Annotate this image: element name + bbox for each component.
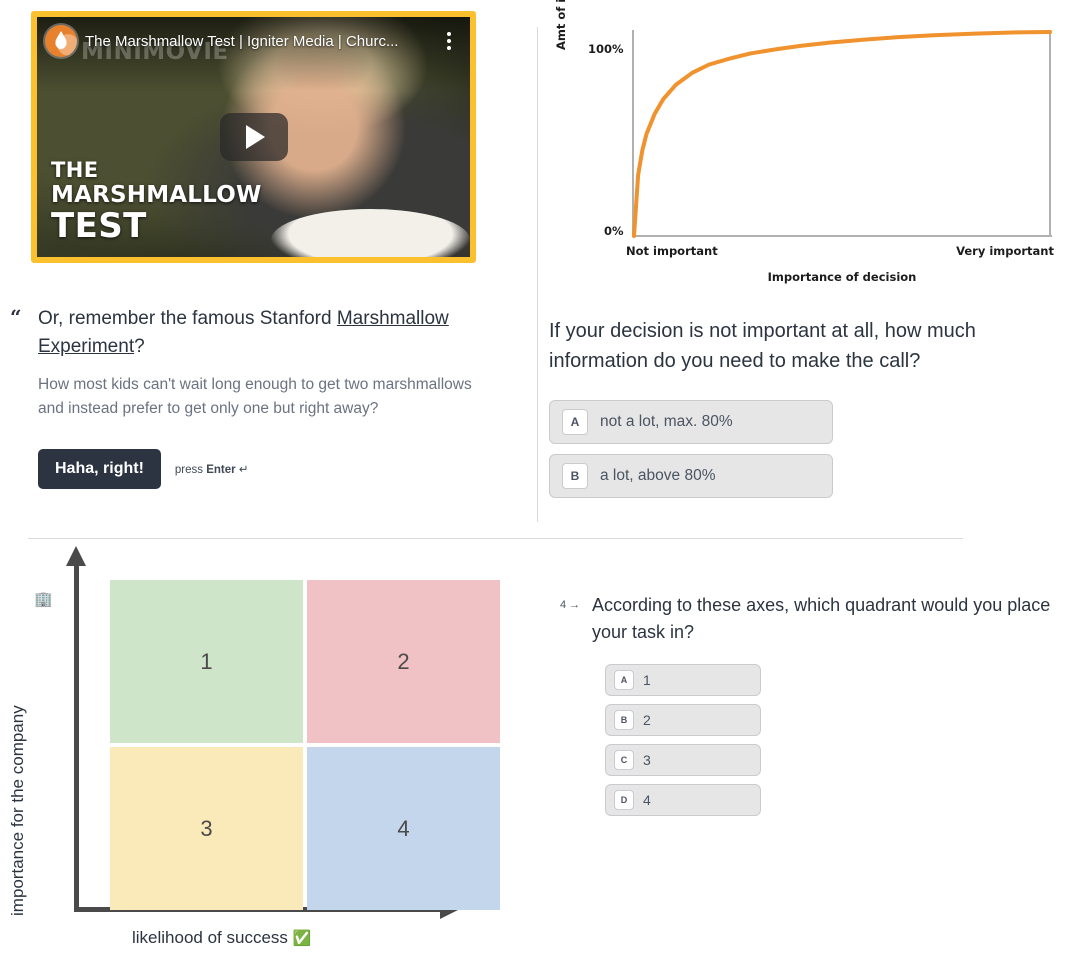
- hint-prefix: press: [175, 464, 206, 476]
- check-mark-icon: ✅: [293, 930, 312, 947]
- question-4-option-label: 4: [643, 792, 651, 808]
- question-1-option-b[interactable]: Ba lot, above 80%: [549, 454, 833, 498]
- quadrant-diagram: 🏢 importance for the company 1 2 3 4 lik…: [28, 556, 498, 956]
- press-enter-hint: press Enter ↵: [175, 462, 249, 476]
- chart-x-tick-left: Not important: [626, 244, 718, 258]
- question-1-options: Anot a lot, max. 80%Ba lot, above 80%: [549, 400, 1069, 508]
- video-title[interactable]: The Marshmallow Test | Igniter Media | C…: [85, 32, 432, 51]
- question-4-option-label: 3: [643, 752, 651, 768]
- video-caption-line-1: THE: [51, 160, 262, 181]
- video-caption: THE MARSHMALLOW TEST: [51, 160, 262, 243]
- question-4-panel: 4 → According to these axes, which quadr…: [560, 592, 1060, 824]
- question-1-option-key: A: [562, 409, 588, 435]
- question-1-option-label: not a lot, max. 80%: [600, 413, 733, 431]
- question-4-option-label: 1: [643, 672, 651, 688]
- quote-subtext: How most kids can't wait long enough to …: [38, 373, 478, 421]
- question-1-text: If your decision is not important at all…: [549, 316, 1069, 376]
- quote-block: “ Or, remember the famous Stanford Marsh…: [10, 305, 510, 489]
- video-player-card[interactable]: MINIMOVIE The Marshmallow Test | Igniter…: [31, 11, 476, 263]
- quote-heading-suffix: ?: [134, 336, 145, 357]
- chart-x-tick-right: Very important: [956, 244, 1054, 258]
- question-4-option-d[interactable]: D4: [605, 784, 761, 816]
- question-4-option-b[interactable]: B2: [605, 704, 761, 736]
- question-4-option-key: B: [614, 710, 634, 730]
- question-1-panel: If your decision is not important at all…: [549, 316, 1069, 508]
- chart-plot-area: [632, 30, 1052, 238]
- chart-x-axis-label: Importance of decision: [632, 270, 1052, 284]
- question-4-option-key: C: [614, 750, 634, 770]
- hint-key: Enter: [206, 464, 235, 476]
- quadrant-y-axis-arrow-icon: [66, 546, 86, 566]
- question-1-option-a[interactable]: Anot a lot, max. 80%: [549, 400, 833, 444]
- question-4-number: 4 →: [560, 592, 592, 611]
- question-4-option-key: D: [614, 790, 634, 810]
- quadrant-cell-2[interactable]: 2: [307, 580, 500, 743]
- video-caption-line-3: TEST: [51, 209, 262, 243]
- question-1-option-label: a lot, above 80%: [600, 467, 715, 485]
- chart-data-curve: [634, 32, 1050, 236]
- quadrant-cell-1[interactable]: 1: [110, 580, 303, 743]
- question-4-option-a[interactable]: A1: [605, 664, 761, 696]
- quadrant-y-axis: [74, 562, 79, 912]
- hint-symbol: ↵: [236, 464, 249, 476]
- info-vs-importance-chart: Amt of info one should seek 100% 0% Not …: [560, 22, 1060, 282]
- video-caption-line-2: MARSHMALLOW: [51, 184, 262, 207]
- video-title-bar: The Marshmallow Test | Igniter Media | C…: [45, 23, 462, 59]
- quote-body: Or, remember the famous Stanford Marshma…: [38, 305, 510, 489]
- question-4-option-c[interactable]: C3: [605, 744, 761, 776]
- quote-answer-row: Haha, right! press Enter ↵: [38, 449, 510, 489]
- horizontal-divider: [28, 538, 963, 539]
- vertical-divider: [537, 27, 538, 522]
- more-options-icon[interactable]: [440, 32, 462, 50]
- question-4-text: According to these axes, which quadrant …: [592, 592, 1060, 646]
- question-4-options: A1B2C3D4: [605, 664, 1060, 824]
- chart-y-tick-0: 0%: [604, 224, 624, 238]
- office-building-icon: 🏢: [34, 592, 53, 607]
- haha-right-button[interactable]: Haha, right!: [38, 449, 161, 489]
- chart-y-tick-100: 100%: [588, 42, 624, 56]
- question-4-option-label: 2: [643, 712, 651, 728]
- quadrant-cell-3[interactable]: 3: [110, 747, 303, 910]
- quote-mark-icon: “: [10, 307, 22, 327]
- question-4-option-key: A: [614, 670, 634, 690]
- quadrant-y-axis-label: importance for the company: [8, 705, 28, 916]
- quote-heading-prefix: Or, remember the famous Stanford: [38, 308, 337, 329]
- chart-y-axis-label: Amt of info one should seek: [554, 0, 568, 50]
- question-1-option-key: B: [562, 463, 588, 489]
- quadrant-x-axis-label-text: likelihood of success: [132, 928, 293, 947]
- quadrant-cell-4[interactable]: 4: [307, 747, 500, 910]
- question-4-header: 4 → According to these axes, which quadr…: [560, 592, 1060, 646]
- quadrant-grid: 1 2 3 4: [110, 580, 500, 910]
- quote-heading: Or, remember the famous Stanford Marshma…: [38, 305, 510, 361]
- quadrant-x-axis-label: likelihood of success ✅: [132, 928, 311, 948]
- play-triangle-shape: [246, 125, 265, 149]
- play-icon[interactable]: [220, 113, 288, 161]
- channel-avatar-icon[interactable]: [45, 25, 77, 57]
